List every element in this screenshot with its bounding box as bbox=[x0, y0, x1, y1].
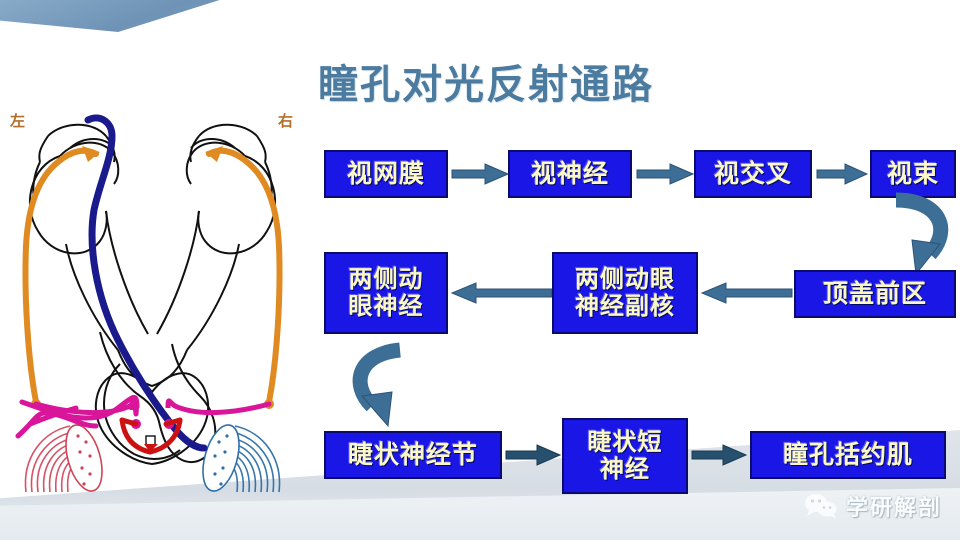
flow-box-pupillary-sphincter[interactable]: 瞳孔括约肌 bbox=[750, 431, 946, 479]
arrow-optic-nerve-to-optic-chiasm bbox=[637, 163, 693, 185]
arrow-optic-chiasm-to-optic-tract bbox=[817, 163, 867, 185]
flow-box-ciliary-ganglion[interactable]: 睫状神经节 bbox=[324, 431, 502, 479]
arrow-ciliary-ganglion-to-short-ciliary-nerve bbox=[506, 444, 560, 466]
arrow-short-ciliary-nerve-to-pupillary-sphincter bbox=[692, 444, 746, 466]
flow-box-short-ciliary-nerve[interactable]: 睫状短 神经 bbox=[562, 418, 688, 494]
flow-box-optic-nerve[interactable]: 视神经 bbox=[508, 150, 632, 198]
slide-canvas: 瞳孔对光反射通路 bbox=[0, 0, 960, 540]
watermark-text: 学研解剖 bbox=[846, 490, 942, 522]
anatomy-label-right: 右 bbox=[278, 110, 293, 131]
flow-box-bilateral-ew-nucleus[interactable]: 两侧动眼 神经副核 bbox=[552, 252, 698, 334]
page-title: 瞳孔对光反射通路 bbox=[318, 52, 654, 110]
flow-box-optic-chiasm[interactable]: 视交叉 bbox=[694, 150, 812, 198]
arrow-oculomotor-nerve-to-ciliary-ganglion bbox=[348, 344, 434, 430]
wechat-icon bbox=[804, 493, 838, 519]
flow-box-bilateral-oculomotor-nerve[interactable]: 两侧动 眼神经 bbox=[324, 252, 448, 334]
flow-box-pretectal-area[interactable]: 顶盖前区 bbox=[794, 270, 956, 318]
corner-banner-decoration bbox=[0, 0, 264, 32]
anatomy-diagram: 左 右 bbox=[0, 96, 305, 500]
watermark: 学研解剖 bbox=[804, 490, 942, 522]
arrow-pretectal-area-to-ew-nucleus bbox=[702, 282, 792, 304]
flow-box-optic-tract[interactable]: 视束 bbox=[870, 150, 956, 198]
arrow-ew-nucleus-to-oculomotor-nerve bbox=[452, 282, 552, 304]
anatomy-label-left: 左 bbox=[10, 110, 25, 131]
arrow-optic-tract-to-pretectal-area bbox=[866, 196, 956, 278]
arrow-retina-to-optic-nerve bbox=[452, 163, 508, 185]
flow-box-retina[interactable]: 视网膜 bbox=[324, 150, 448, 198]
